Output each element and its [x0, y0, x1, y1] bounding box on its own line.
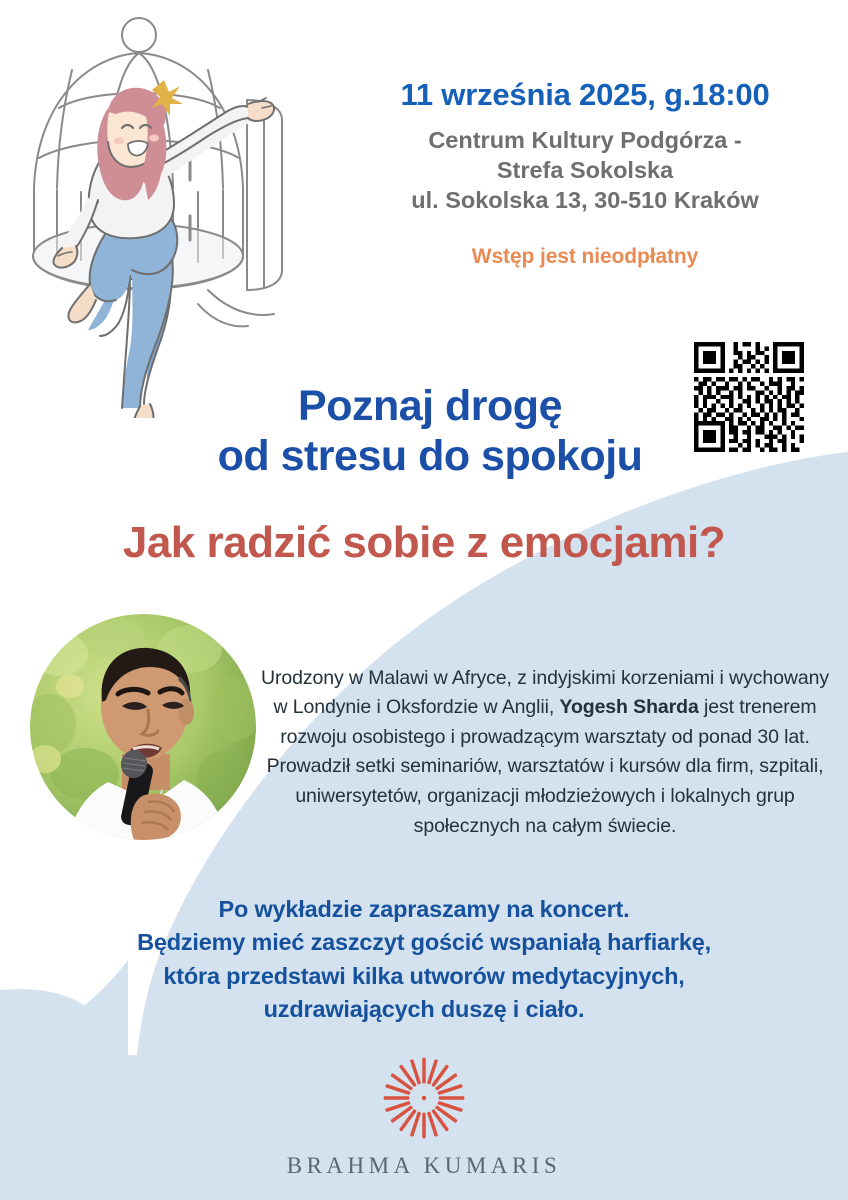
concert-line-3: która przedstawi kilka utworów medytacyj…	[40, 960, 808, 993]
venue-line-2: Strefa Sokolska	[330, 155, 840, 185]
venue-line-1: Centrum Kultury Podgórza -	[330, 125, 840, 155]
brahma-kumaris-sunburst-logo	[381, 1055, 467, 1141]
concert-announcement: Po wykładzie zapraszamy na koncert. Będz…	[40, 893, 808, 1026]
page-title: Poznaj drogę od stresu do spokoju	[140, 382, 720, 482]
brand-block: BRAHMA KUMARIS	[0, 1055, 848, 1179]
speaker-portrait-photo	[30, 614, 256, 840]
event-poster: 11 września 2025, g.18:00 Centrum Kultur…	[0, 0, 848, 1200]
event-date: 11 września 2025, g.18:00	[330, 78, 840, 113]
venue-line-3: ul. Sokolska 13, 30-510 Kraków	[330, 185, 840, 215]
concert-line-2: Będziemy mieć zaszczyt gościć wspaniałą …	[40, 926, 808, 959]
speaker-name: Yogesh Sharda	[559, 696, 698, 718]
page-subtitle: Jak radzić sobie z emocjami?	[20, 518, 828, 568]
main-title-line-2: od stresu do spokoju	[140, 432, 720, 482]
brand-name: BRAHMA KUMARIS	[0, 1153, 848, 1179]
woman-escaping-birdcage-illustration	[12, 8, 312, 418]
speaker-biography: Urodzony w Malawi w Afryce, z indyjskimi…	[256, 664, 834, 842]
free-entry-note: Wstęp jest nieodpłatny	[330, 245, 840, 269]
main-title-line-1: Poznaj drogę	[140, 382, 720, 432]
concert-line-4: uzdrawiających duszę i ciało.	[40, 993, 808, 1026]
concert-line-1: Po wykładzie zapraszamy na koncert.	[40, 893, 808, 926]
event-header: 11 września 2025, g.18:00 Centrum Kultur…	[330, 78, 840, 269]
